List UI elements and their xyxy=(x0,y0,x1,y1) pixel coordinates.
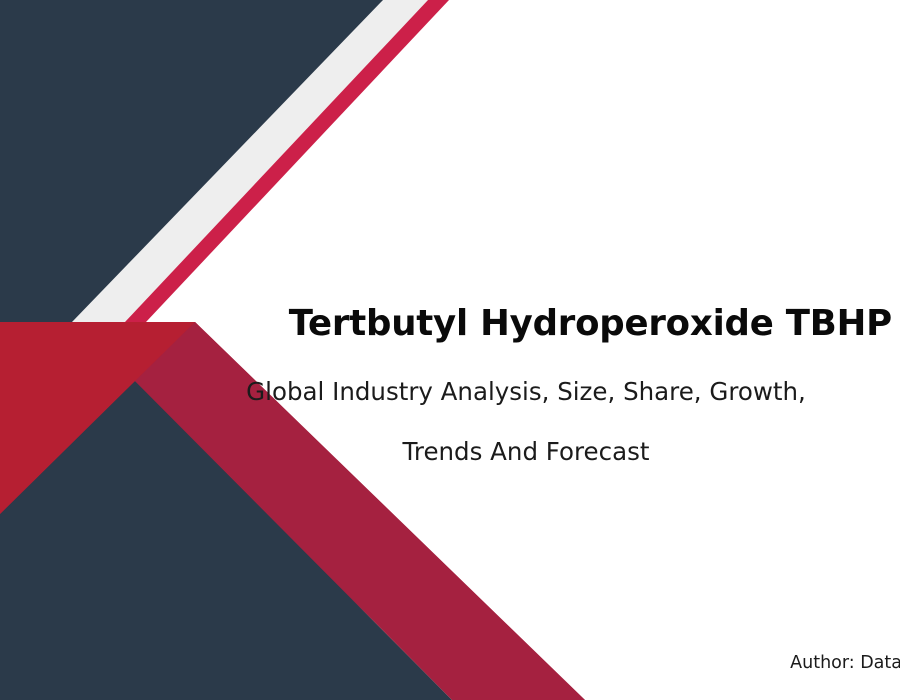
text-layer: Tertbutyl Hydroperoxide TBHP Global Indu… xyxy=(0,0,900,700)
page-title: Tertbutyl Hydroperoxide TBHP xyxy=(120,303,892,345)
subtitle-line-2: Trends And Forecast xyxy=(160,422,892,482)
title-block: Tertbutyl Hydroperoxide TBHP xyxy=(120,303,892,345)
title-slide: Tertbutyl Hydroperoxide TBHP Global Indu… xyxy=(0,0,900,700)
subtitle-line-1: Global Industry Analysis, Size, Share, G… xyxy=(160,362,892,422)
subtitle-block: Global Industry Analysis, Size, Share, G… xyxy=(160,362,892,482)
author-block: Author: Data xyxy=(500,653,900,673)
author-label: Author: Data xyxy=(790,653,900,673)
